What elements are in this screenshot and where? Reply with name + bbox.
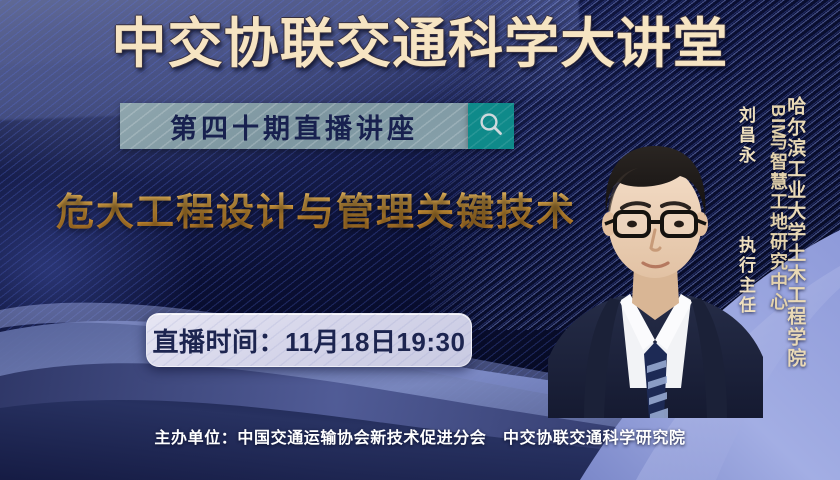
series-banner: 第四十期直播讲座 <box>120 103 468 149</box>
series-label: 第四十期直播讲座 <box>170 107 418 146</box>
speaker-org-center: BIM与智慧工地研究中心 <box>760 112 796 362</box>
search-icon-box[interactable] <box>468 103 514 149</box>
speaker-portrait <box>548 88 763 418</box>
lecture-title: 危大工程设计与管理关键技术 <box>56 189 576 237</box>
speaker-org-center-prefix: BIM <box>768 104 788 140</box>
speaker-name: 刘昌永 <box>736 106 755 226</box>
live-time-label: 直播时间：11月18日19:30 <box>153 322 466 359</box>
footer-organizers: 主办单位：中国交通运输协会新技术促进分会 中交协联交通科学研究院 <box>0 424 840 448</box>
speaker-role: 执行主任 <box>736 236 755 346</box>
poster-canvas: 中交协联交通科学大讲堂 第四十期直播讲座 危大工程设计与管理关键技术 直播时间：… <box>0 0 840 480</box>
search-icon <box>478 111 504 142</box>
live-time-pill: 直播时间：11月18日19:30 <box>146 313 472 367</box>
page-title: 中交协联交通科学大讲堂 <box>0 14 840 74</box>
speaker-org-center-rest: 与智慧工地研究中心 <box>768 132 788 312</box>
